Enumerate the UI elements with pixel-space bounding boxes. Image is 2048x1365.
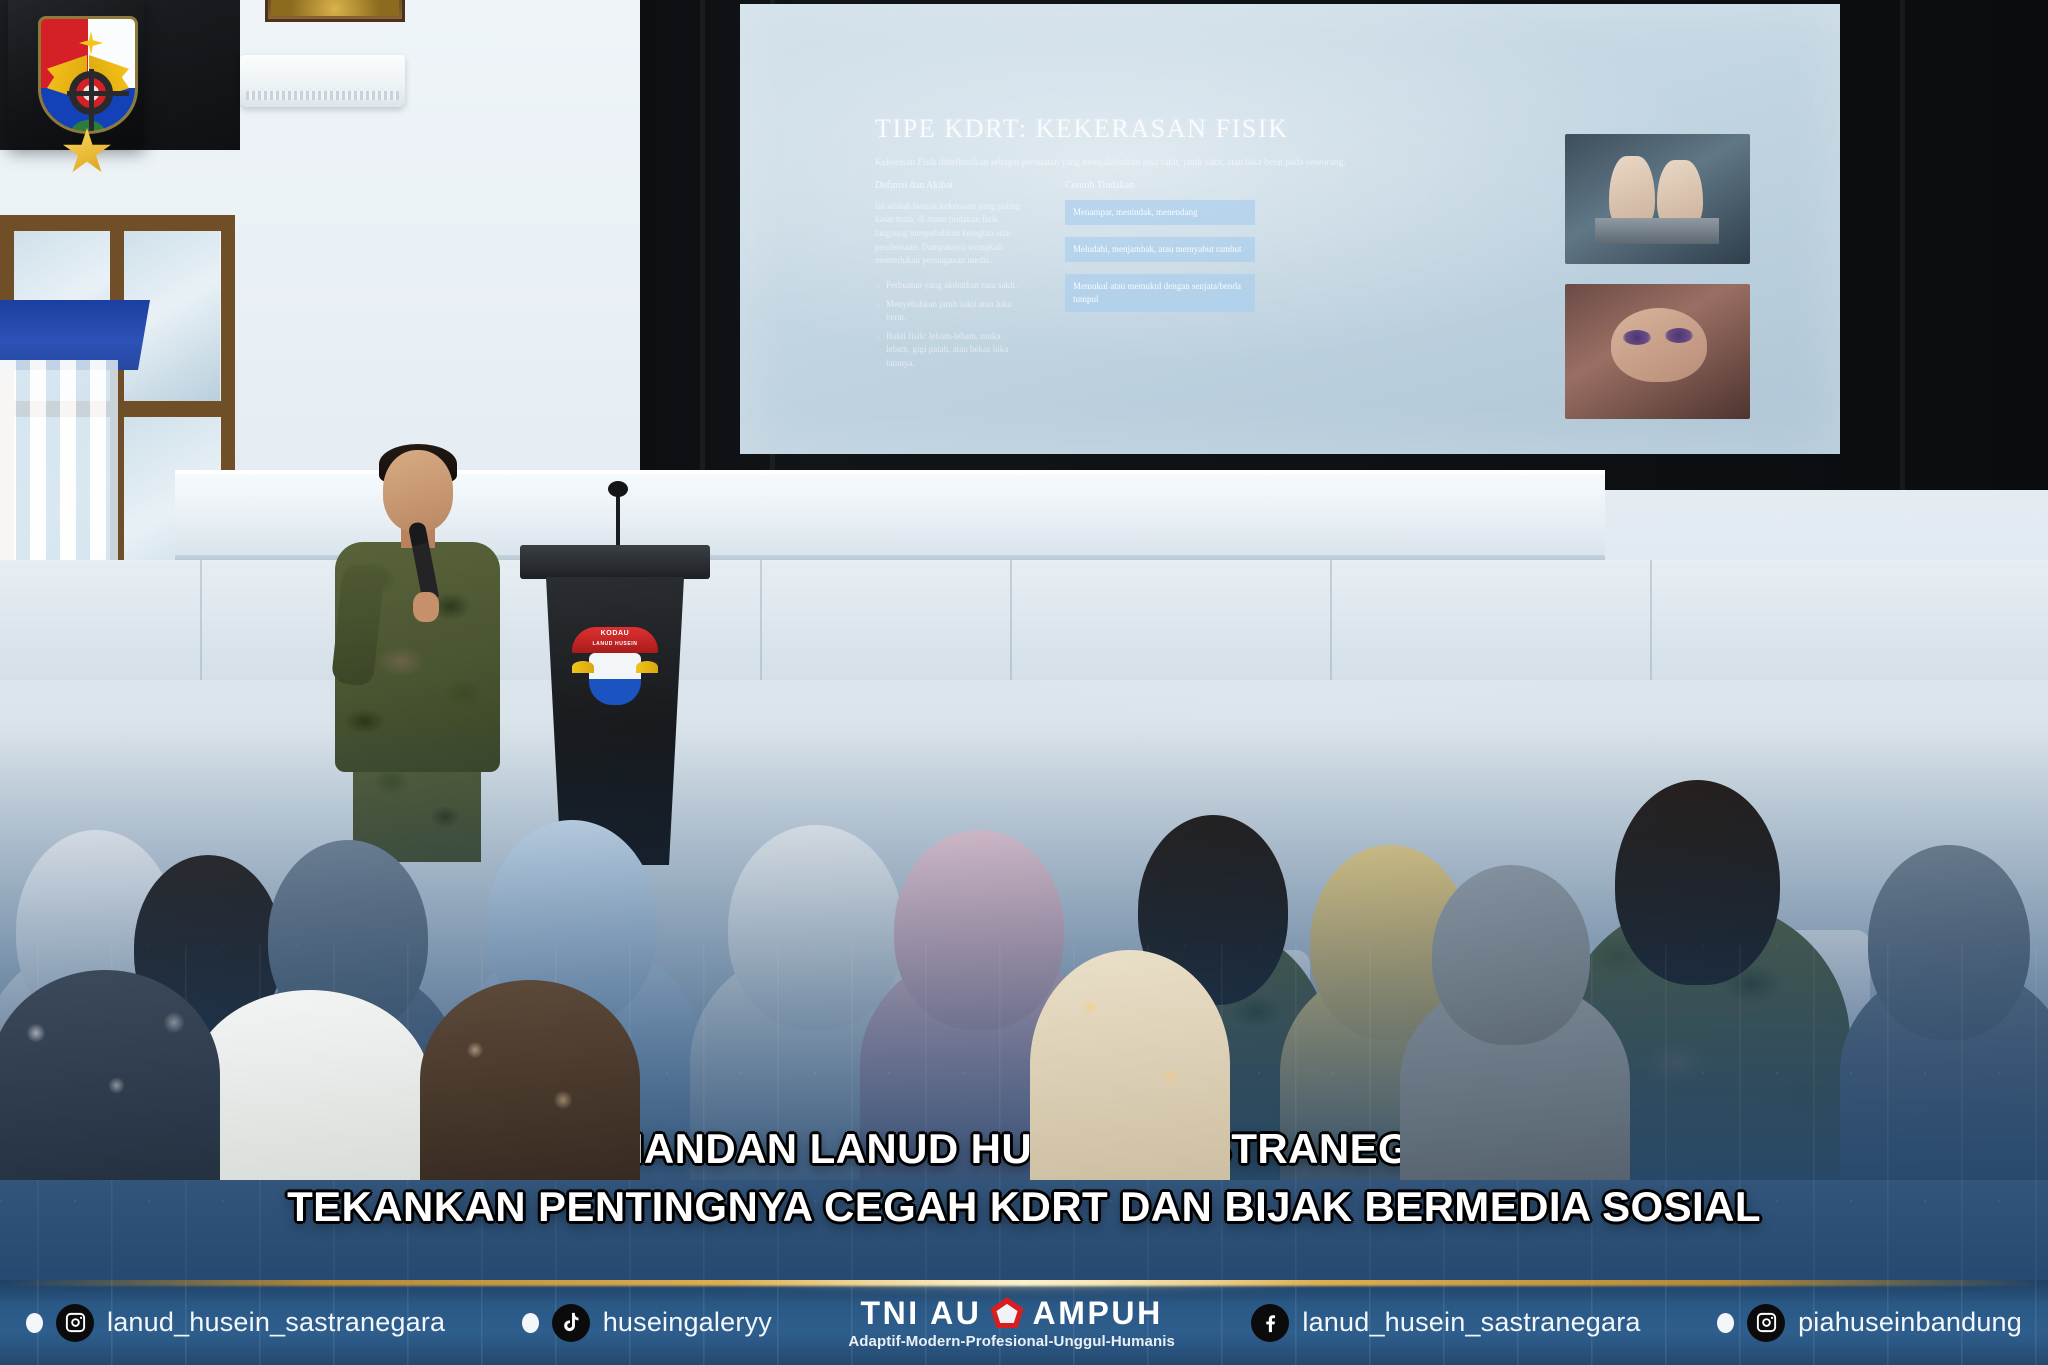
footer-account-instagram-2[interactable]: piahuseinbandung bbox=[1717, 1304, 2022, 1342]
head-hijab-grey bbox=[1432, 865, 1590, 1045]
presentation-slide: TIPE KDRT: KEKERASAN FISIK Kekerasan Fis… bbox=[875, 114, 1755, 444]
shoulders-floral bbox=[1030, 950, 1230, 1180]
brand-top-row: TNI AU AMPUH bbox=[860, 1297, 1162, 1329]
bruise-mark bbox=[1623, 330, 1651, 345]
slide-lead-paragraph: Kekerasan Fisik didefinisikan sebagai pe… bbox=[875, 157, 1355, 171]
audience-member bbox=[190, 880, 430, 1180]
slide-left-heading: Definisi dan Akibat bbox=[875, 180, 1025, 191]
audience-member bbox=[1400, 880, 1630, 1180]
poster-title-line-2: TEKANKAN PENTINGNYA CEGAH KDRT DAN BIJAK… bbox=[0, 1183, 2048, 1231]
bruise-mark bbox=[1665, 328, 1693, 343]
shoulders-batik bbox=[0, 970, 220, 1180]
brand-tagline: Adaptif-Modern-Profesional-Unggul-Humani… bbox=[848, 1334, 1175, 1349]
brand-text-tni-au: TNI AU bbox=[860, 1297, 981, 1329]
instagram-handle[interactable]: lanud_husein_sastranegara bbox=[107, 1307, 445, 1338]
slide-bullet: Menyebabkan jatuh sakit atau luka berat. bbox=[875, 298, 1025, 325]
slide-right-heading: Contoh Tindakan bbox=[1065, 180, 1255, 191]
instagram-handle[interactable]: piahuseinbandung bbox=[1798, 1307, 2022, 1338]
instagram-icon[interactable] bbox=[56, 1304, 94, 1342]
tiktok-icon[interactable] bbox=[552, 1304, 590, 1342]
podium-banner: KODAU LANUD HUSEIN bbox=[572, 627, 658, 653]
air-conditioner-unit bbox=[240, 55, 405, 107]
social-media-footer: lanud_husein_sastranegara huseingaleryy … bbox=[0, 1280, 2048, 1365]
podium-top-surface bbox=[520, 545, 710, 579]
bullet-dot-icon bbox=[522, 1313, 539, 1333]
slide-bullet: Perbuatan yang akibatkan rasa sakit. bbox=[875, 279, 1025, 293]
slide-example-chip: Memukul atau memukul dengan senjata/bend… bbox=[1065, 274, 1255, 312]
bullet-dot-icon bbox=[26, 1313, 43, 1333]
speaker-head bbox=[383, 450, 453, 532]
facebook-icon[interactable] bbox=[1251, 1304, 1289, 1342]
podium-banner-line2: LANUD HUSEIN bbox=[572, 638, 658, 647]
instagram-icon[interactable] bbox=[1747, 1304, 1785, 1342]
tiktok-handle[interactable]: huseingaleryy bbox=[603, 1307, 772, 1338]
slide-image-restrained-hands bbox=[1565, 134, 1750, 264]
poster-canvas: TIPE KDRT: KEKERASAN FISIK Kekerasan Fis… bbox=[0, 0, 2048, 1365]
star-icon bbox=[79, 31, 103, 55]
facebook-handle[interactable]: lanud_husein_sastranegara bbox=[1302, 1307, 1640, 1338]
audience-member bbox=[1030, 950, 1230, 1180]
slide-left-bullet-list: Perbuatan yang akibatkan rasa sakit. Men… bbox=[875, 279, 1025, 370]
brand-text-ampuh: AMPUH bbox=[1033, 1297, 1163, 1329]
shoulders bbox=[190, 990, 430, 1180]
slide-image-bruised-face bbox=[1565, 284, 1750, 419]
curtain-fold bbox=[1900, 0, 1905, 490]
footer-account-instagram-1[interactable]: lanud_husein_sastranegara bbox=[26, 1304, 445, 1342]
tni-au-ampuh-brand: TNI AU AMPUH Adaptif-Modern-Profesional-… bbox=[848, 1297, 1175, 1349]
footer-content-row: lanud_husein_sastranegara huseingaleryy … bbox=[0, 1280, 2048, 1365]
wall-picture-art bbox=[271, 0, 399, 16]
bullet-dot-icon bbox=[1717, 1313, 1734, 1333]
ship-wheel-icon bbox=[69, 71, 113, 115]
footer-account-facebook[interactable]: lanud_husein_sastranegara bbox=[1251, 1304, 1640, 1342]
shoulders-batik bbox=[420, 980, 640, 1180]
slide-example-chip: Menampar, menindak, menendang bbox=[1065, 200, 1255, 225]
audience-member bbox=[420, 980, 640, 1180]
projector-screen: TIPE KDRT: KEKERASAN FISIK Kekerasan Fis… bbox=[740, 4, 1840, 454]
face-shape bbox=[1611, 308, 1707, 382]
restraint-band bbox=[1595, 218, 1719, 244]
slide-column-right: Contoh Tindakan Menampar, menindak, mene… bbox=[1065, 180, 1255, 375]
audience-member bbox=[0, 970, 220, 1180]
speaker-hand bbox=[413, 592, 439, 622]
curtain-fold bbox=[700, 0, 705, 490]
wall-picture-frame bbox=[265, 0, 405, 22]
slide-left-body: Ini adalah bentuk kekerasan yang paling … bbox=[875, 200, 1025, 268]
tni-au-shield-emblem bbox=[38, 16, 138, 134]
pentagon-icon bbox=[991, 1297, 1024, 1328]
slide-bullet: Bukti fisik: lebam-lebam, muka lebam, gi… bbox=[875, 330, 1025, 371]
microphone-stand bbox=[616, 490, 620, 550]
podium-microphone-head bbox=[608, 481, 628, 497]
footer-account-tiktok[interactable]: huseingaleryy bbox=[522, 1304, 772, 1342]
slide-column-left: Definisi dan Akibat Ini adalah bentuk ke… bbox=[875, 180, 1025, 375]
slide-example-chip: Meludahi, menjambak, atau memyabut rambu… bbox=[1065, 237, 1255, 262]
podium-banner-line1: KODAU bbox=[572, 627, 658, 638]
